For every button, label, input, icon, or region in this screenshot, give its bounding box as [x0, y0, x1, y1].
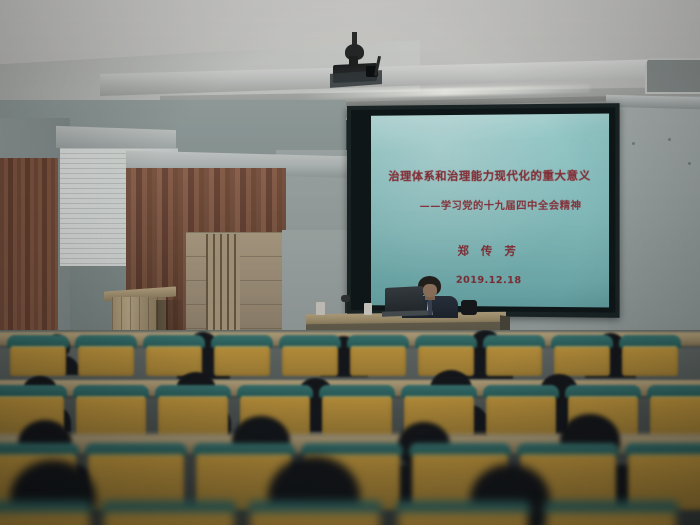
right-wall-trim [606, 95, 700, 110]
wall-mark [668, 138, 671, 141]
desk-bag [461, 300, 477, 315]
slide-date: 2019.12.18 [456, 275, 522, 287]
audience-seat [546, 508, 676, 525]
microphone-head [341, 295, 350, 302]
presentation-slide: 治理体系和治理能力现代化的重大意义 ——学习党的十九届四中全会精神 郑 传 芳 … [371, 114, 609, 308]
slide-author: 郑 传 芳 [458, 242, 520, 258]
desk-cup [316, 302, 325, 315]
presenter-face [423, 284, 437, 297]
wall-mark [688, 162, 691, 165]
lecture-hall-screenshot: 治理体系和治理能力现代化的重大意义 ——学习党的十九届四中全会精神 郑 传 芳 … [0, 0, 700, 525]
audience-area [0, 330, 700, 525]
audience-seat [398, 508, 528, 525]
desk-cup [364, 303, 372, 315]
ceiling-vent [645, 58, 700, 94]
audience-seat [250, 508, 380, 525]
audience-seat [0, 508, 90, 525]
projection-screen-surface: 治理体系和治理能力现代化的重大意义 ——学习党的十九届四中全会精神 郑 传 芳 … [371, 114, 609, 308]
slide-subtitle: ——学习党的十九届四中全会精神 [420, 197, 582, 212]
row-foreground [0, 330, 700, 525]
projection-screen-frame: 治理体系和治理能力现代化的重大意义 ——学习党的十九届四中全会精神 郑 传 芳 … [347, 103, 620, 318]
audience-seat [104, 508, 234, 525]
presenter-tie [428, 300, 432, 315]
wall-mark [632, 142, 635, 145]
slide-title: 治理体系和治理能力现代化的重大意义 [388, 167, 590, 184]
